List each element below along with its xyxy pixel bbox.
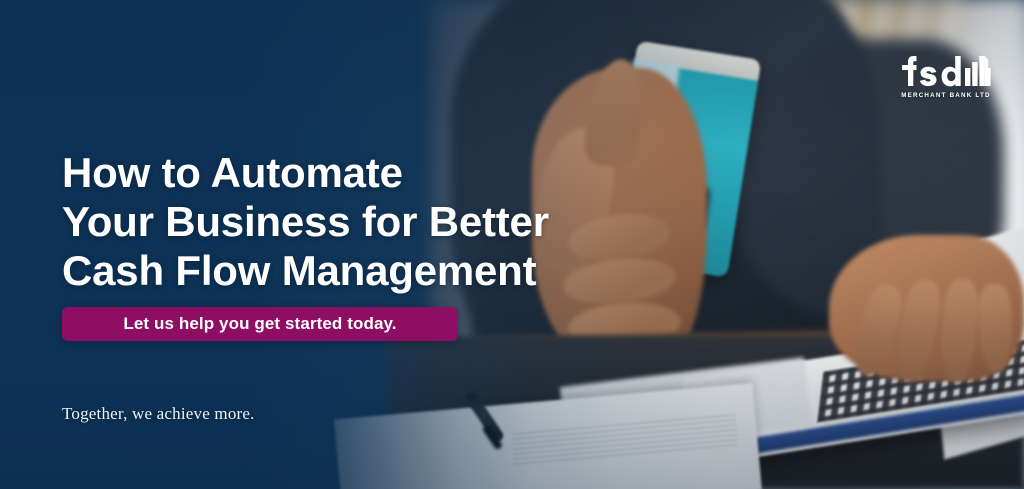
banner-content: How to Automate Your Business for Better… xyxy=(0,0,1024,489)
tagline: Together, we achieve more. xyxy=(62,404,255,424)
fsdh-wordmark-icon xyxy=(898,52,994,92)
fsdh-logo[interactable]: MERCHANT BANK LTD xyxy=(898,52,994,104)
marketing-banner: How to Automate Your Business for Better… xyxy=(0,0,1024,489)
cta-button[interactable]: Let us help you get started today. xyxy=(62,307,458,341)
headline: How to Automate Your Business for Better… xyxy=(62,148,549,295)
logo-subtitle: MERCHANT BANK LTD xyxy=(898,92,994,99)
